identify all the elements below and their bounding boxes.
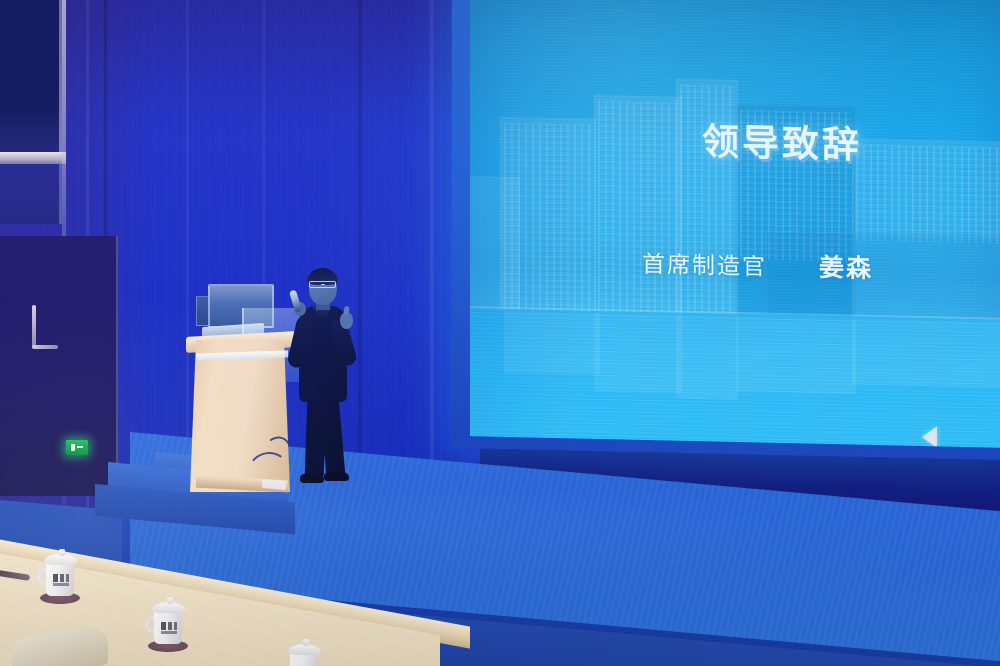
slide-bg-reflection: [736, 316, 856, 395]
slide-subtitle-gap: [767, 275, 819, 276]
presenter: [290, 268, 360, 492]
cup-body: [46, 562, 74, 596]
cup-logo: [53, 574, 69, 582]
cup-logo-sub: [161, 631, 177, 634]
cup-logo-sub: [53, 583, 69, 586]
slide-bg-windows: [504, 123, 592, 313]
door-handle-bar-icon[interactable]: [32, 345, 58, 349]
slide-bg-reflection: [504, 311, 600, 375]
wall-alcove-lower: [0, 164, 62, 224]
slide-speaker-name: 姜森: [819, 254, 873, 283]
slide-bg-reflection: [852, 318, 1000, 388]
slide-role-label: 首席制造官: [642, 251, 767, 280]
slide-bg-reflection: [676, 315, 738, 400]
wall-alcove: [0, 0, 62, 175]
presenter-shoe-right: [324, 472, 349, 481]
slide-bg-windows: [598, 101, 678, 315]
led-screen[interactable]: 领导致辞 首席制造官姜森: [470, 0, 1000, 448]
microphone-icon: [289, 289, 302, 312]
exit-sign: [66, 440, 88, 455]
play-triangle-icon[interactable]: [922, 426, 937, 448]
running-person-icon: [70, 443, 84, 452]
glasses-icon: [309, 281, 336, 288]
presenter-shoe-left: [300, 474, 324, 483]
door-handle-icon[interactable]: [32, 305, 36, 347]
cup-lid-knob: [59, 549, 65, 556]
side-door[interactable]: [0, 236, 118, 496]
presentation-photo-scene: 领导致辞 首席制造官姜森: [0, 0, 1000, 666]
slide-title: 领导致辞: [702, 111, 1000, 172]
slide-bg-reflection: [594, 313, 682, 393]
wall-alcove-lip: [0, 152, 66, 164]
cup-lid-knob: [303, 639, 309, 646]
cup-body: [154, 610, 182, 644]
cup-lid-knob: [167, 597, 173, 604]
slide-subtitle: 首席制造官姜森: [642, 244, 873, 285]
cup-logo: [161, 622, 177, 630]
